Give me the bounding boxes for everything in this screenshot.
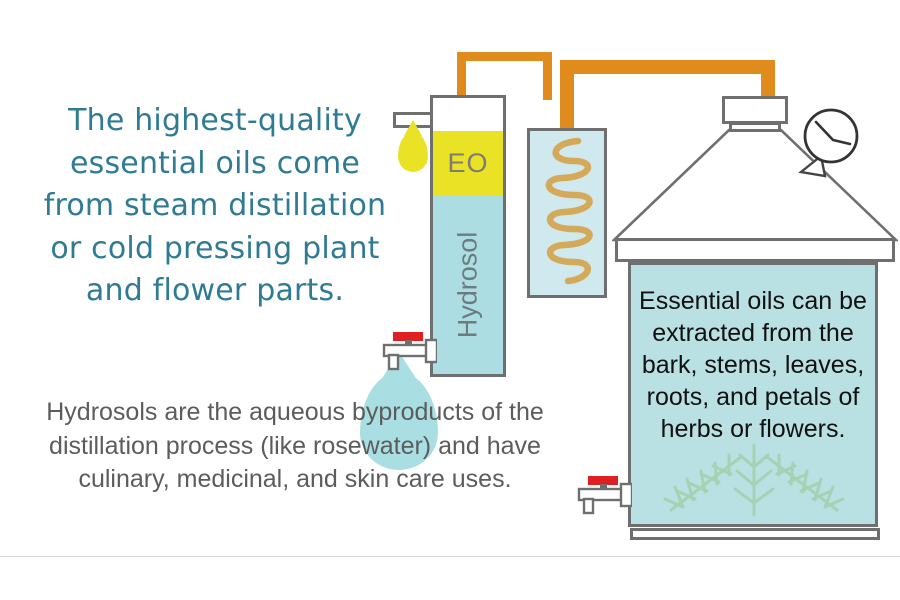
still-note-text: Essential oils can be extracted from the… xyxy=(631,265,875,445)
separator-eo-layer: EO xyxy=(433,131,503,195)
separator-hydrosol-layer: Hydrosol xyxy=(433,195,503,374)
pipe-separator-crossbar xyxy=(457,52,552,61)
still-collar-lip xyxy=(729,122,781,132)
pressure-gauge-icon xyxy=(795,104,861,184)
pipe-still-crossbar xyxy=(560,60,775,74)
still-body: Essential oils can be extracted from the… xyxy=(628,262,878,527)
still-valve-icon[interactable] xyxy=(576,473,632,515)
pipe-separator-downleg xyxy=(543,52,552,100)
condenser-coil-icon xyxy=(530,131,604,295)
separator-hydrosol-label: Hydrosol xyxy=(453,231,484,338)
hydrosol-note-text: Hydrosols are the aqueous byproducts of … xyxy=(30,396,560,497)
still-flange xyxy=(615,238,895,262)
oil-droplet-icon xyxy=(398,132,428,172)
separator-eo-label: EO xyxy=(447,148,488,179)
headline-text: The highest-quality essential oils come … xyxy=(40,100,390,313)
separator-column: EO Hydrosol xyxy=(430,95,506,377)
infographic-canvas: The highest-quality essential oils come … xyxy=(0,0,900,600)
separator-valve-icon[interactable] xyxy=(381,329,437,371)
still-collar xyxy=(722,96,788,124)
condenser-chamber xyxy=(527,128,607,298)
page-baseline-rule xyxy=(0,556,900,557)
still-base xyxy=(630,528,880,540)
